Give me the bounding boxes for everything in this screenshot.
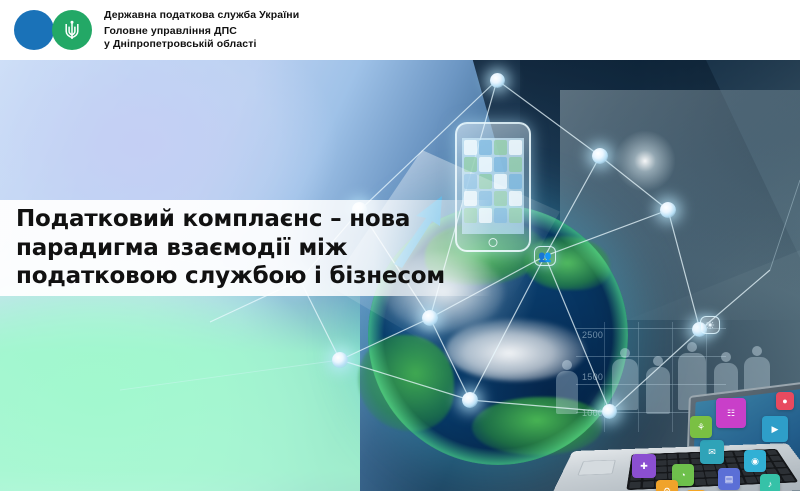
doc-tile: ▤ bbox=[718, 468, 740, 490]
banner-page: Державна податкова служба України Головн… bbox=[0, 0, 800, 491]
logo-blue-circle-icon bbox=[14, 10, 54, 50]
network-node bbox=[462, 392, 478, 408]
mail-tile-glyph: ✉ bbox=[708, 448, 716, 457]
network-node bbox=[490, 73, 505, 88]
chat-icon: ☀ bbox=[700, 316, 720, 334]
banner-title-line-3: податковою службою і бізнесом bbox=[16, 262, 492, 291]
organization-name-block: Державна податкова служба України Головн… bbox=[104, 9, 299, 51]
network-node bbox=[332, 352, 348, 368]
globe-tile: ☷ bbox=[716, 398, 746, 428]
network-node bbox=[592, 148, 608, 164]
logo-green-circle-icon bbox=[52, 10, 92, 50]
globe-tile-glyph: ☷ bbox=[727, 409, 735, 418]
lens-flare bbox=[610, 126, 680, 196]
gear-tile-glyph: ⚙ bbox=[663, 487, 671, 491]
music-tile: ♪ bbox=[760, 474, 780, 491]
network-node bbox=[660, 202, 676, 218]
gear-tile: ⚙ bbox=[656, 480, 678, 491]
leaf-tile-glyph: ⚘ bbox=[697, 423, 705, 432]
music-tile-glyph: ♪ bbox=[768, 480, 773, 489]
banner-title-line-1: Податковий комплаєнс – нова bbox=[16, 205, 492, 234]
org-line-1: Державна податкова служба України bbox=[104, 9, 299, 22]
mail-tile: ✉ bbox=[700, 440, 724, 464]
users-icon: 👥 bbox=[534, 246, 556, 266]
video-tile: ▶ bbox=[762, 416, 788, 442]
plus-tile: ✚ bbox=[632, 454, 656, 478]
leaf-tile: ⚘ bbox=[690, 416, 712, 438]
ukraine-trident-icon bbox=[62, 18, 82, 42]
wifi-tile-glyph: ◔ bbox=[680, 471, 685, 480]
doc-tile-glyph: ▤ bbox=[725, 475, 734, 484]
banner-title-overlay: Податковий комплаєнс – нова парадигма вз… bbox=[0, 200, 492, 296]
pin-tile: ◉ bbox=[744, 450, 766, 472]
alert-tile: ● bbox=[776, 392, 794, 410]
video-tile-glyph: ▶ bbox=[772, 425, 779, 434]
pin-tile-glyph: ◉ bbox=[751, 457, 759, 466]
organization-logo[interactable] bbox=[14, 9, 92, 51]
org-line-2: Головне управління ДПС bbox=[104, 25, 299, 38]
org-line-3: у Дніпропетровській області bbox=[104, 38, 299, 51]
hero-banner-image: 2500 1500 1000 bbox=[0, 60, 800, 491]
site-header: Державна податкова служба України Головн… bbox=[0, 0, 800, 60]
network-node bbox=[422, 310, 438, 326]
plus-tile-glyph: ✚ bbox=[640, 462, 648, 471]
laptop-trackpad bbox=[577, 460, 616, 476]
alert-tile-glyph: ● bbox=[782, 397, 787, 406]
banner-title-line-2: парадигма взаємодії між bbox=[16, 234, 492, 263]
